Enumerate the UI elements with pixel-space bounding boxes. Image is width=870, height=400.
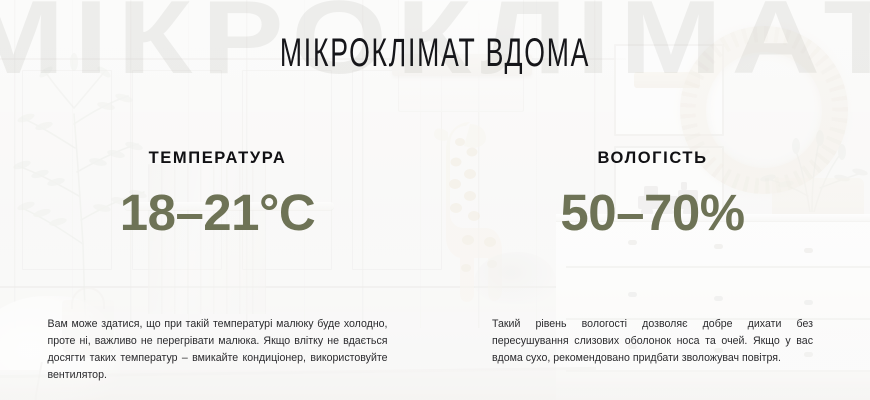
descriptions-row: Вам може здатися, що при такій температу… xyxy=(0,316,870,385)
page-title: МІКРОКЛІМАТ ВДОМА xyxy=(131,33,740,73)
metric-temperature-description: Вам може здатися, що при такій температу… xyxy=(48,316,388,385)
metric-temperature: ТЕМПЕРАТУРА 18–21°C xyxy=(0,150,435,238)
metric-humidity-value: 50–70% xyxy=(435,187,870,238)
metrics-row: ТЕМПЕРАТУРА 18–21°C ВОЛОГІСТЬ 50–70% xyxy=(0,150,870,238)
slide-content: МІКРОКЛІМАТ ВДОМА ТЕМПЕРАТУРА 18–21°C ВО… xyxy=(0,0,870,400)
metric-temperature-heading: ТЕМПЕРАТУРА xyxy=(0,150,435,167)
metric-humidity: ВОЛОГІСТЬ 50–70% xyxy=(435,150,870,238)
slide-root: МІКРОКЛІМАТ МІКРОКЛІМАТ ВДОМА ТЕМПЕРАТУР… xyxy=(0,0,870,400)
metric-temperature-description-wrap: Вам може здатися, що при такій температу… xyxy=(0,316,435,385)
metric-temperature-value: 18–21°C xyxy=(0,187,435,238)
metric-humidity-heading: ВОЛОГІСТЬ xyxy=(435,150,870,167)
metric-humidity-description: Такий рівень вологості дозволяє добре ди… xyxy=(492,316,813,385)
metric-humidity-description-wrap: Такий рівень вологості дозволяє добре ди… xyxy=(435,316,870,385)
